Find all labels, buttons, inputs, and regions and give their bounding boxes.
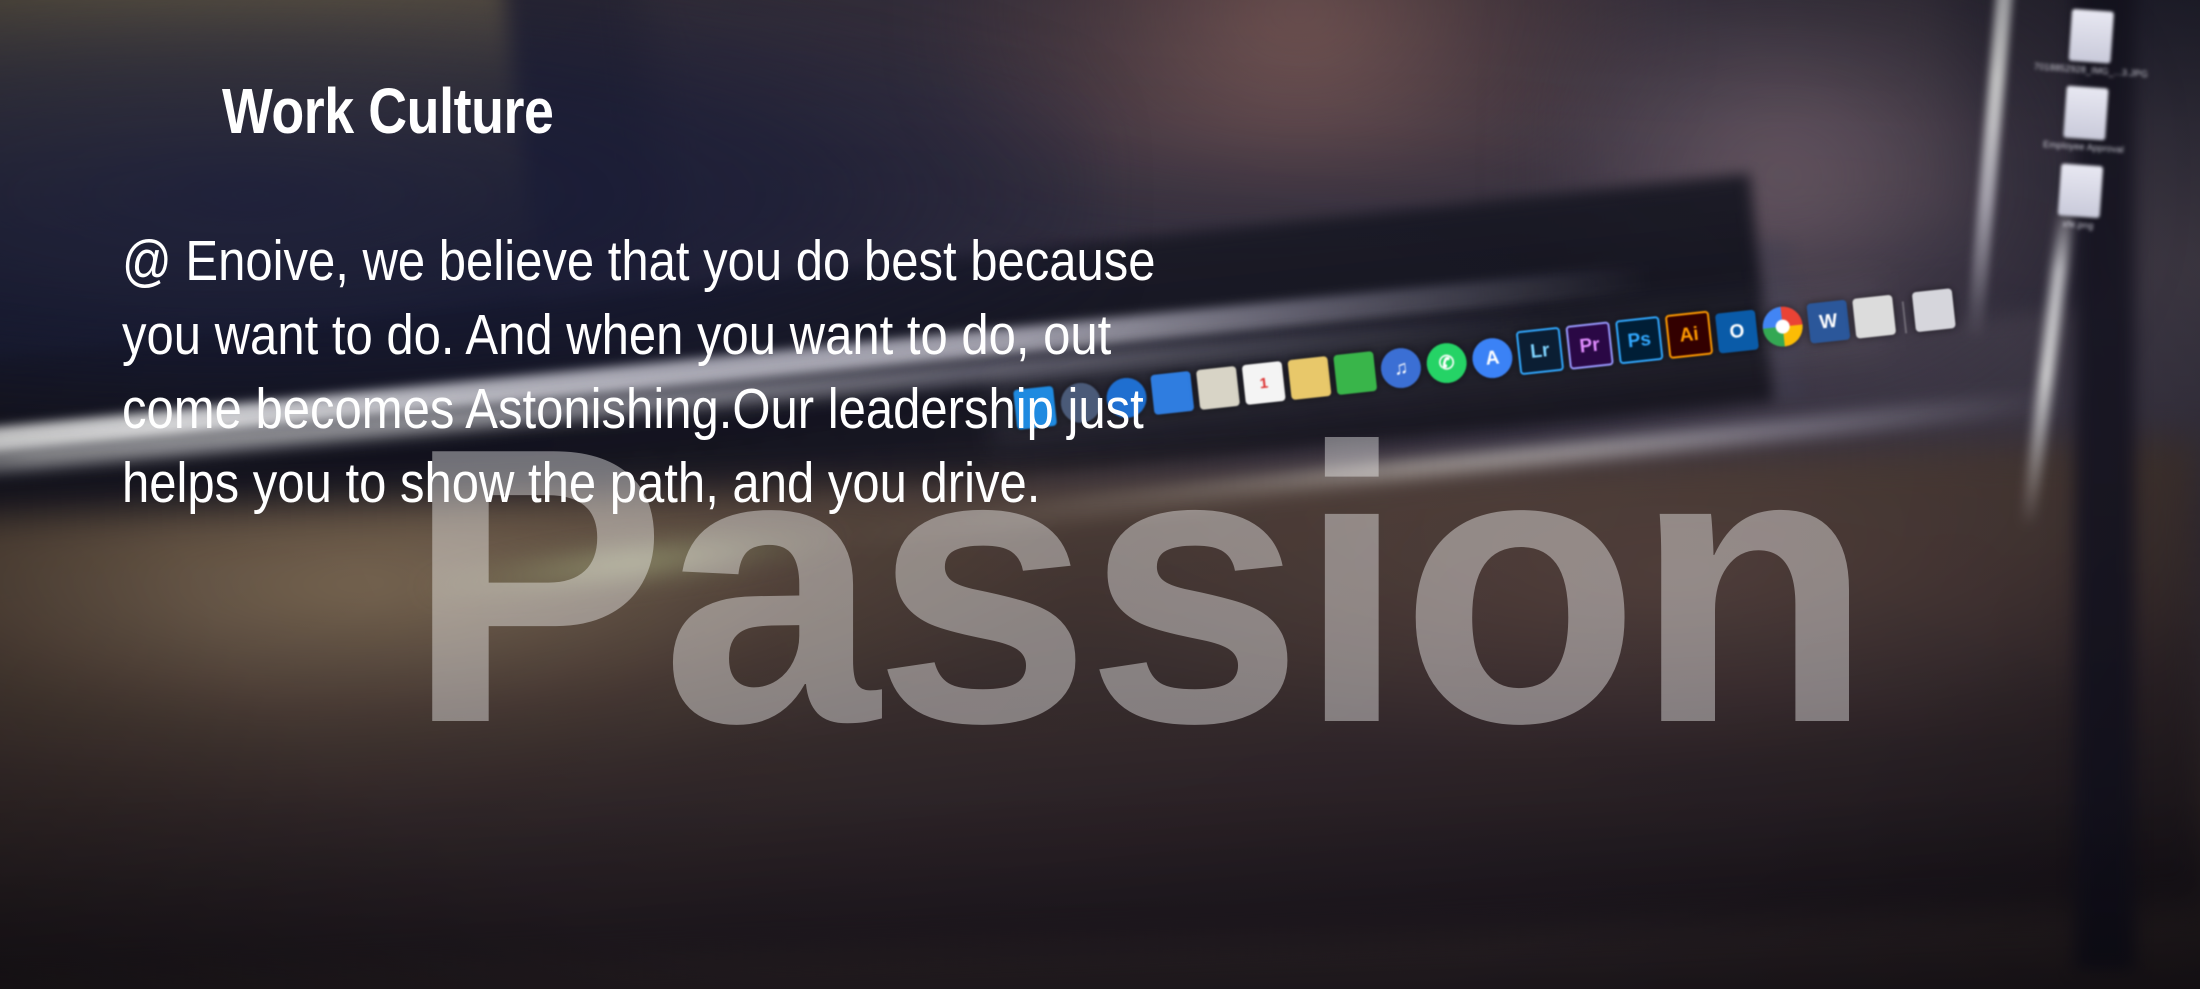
body-line: @ Enoive, we believe that you do best be… [122,224,1231,298]
illustrator-icon: Ai [1665,311,1713,359]
page-title: Work Culture [222,78,553,145]
image-file-3 [2058,163,2104,218]
file-label: 7018852928_IMG_...3.JPG [2034,61,2144,79]
premiere-icon: Pr [1565,321,1613,369]
file-label: xfe.png [2023,216,2133,234]
chrome-icon [1761,305,1805,349]
body-line: you want to do. And when you want to do,… [122,298,1231,372]
photoshop-icon: Ps [1615,316,1663,364]
body-paragraph: @ Enoive, we believe that you do best be… [122,224,1231,520]
body-line: helps you to show the path, and you driv… [122,446,1231,520]
word-icon: W [1806,300,1850,344]
desktop-file-list: 7018852928_IMG_...3.JPGEmployee Approval… [2022,6,2148,245]
trash-icon [1912,288,1956,332]
slide-canvas: 1♫✆ALrPrPsAiOW 7018852928_IMG_...3.JPGEm… [0,0,2200,989]
file-label: Employee Approval [2028,138,2138,156]
keyboard-app-icon [1852,295,1896,339]
outlook-icon: O [1715,310,1759,354]
body-line: come becomes Astonishing.Our leadership … [122,372,1231,446]
image-file-2 [2063,86,2109,141]
dock-separator [1902,301,1907,333]
image-file-1 [2069,9,2115,64]
